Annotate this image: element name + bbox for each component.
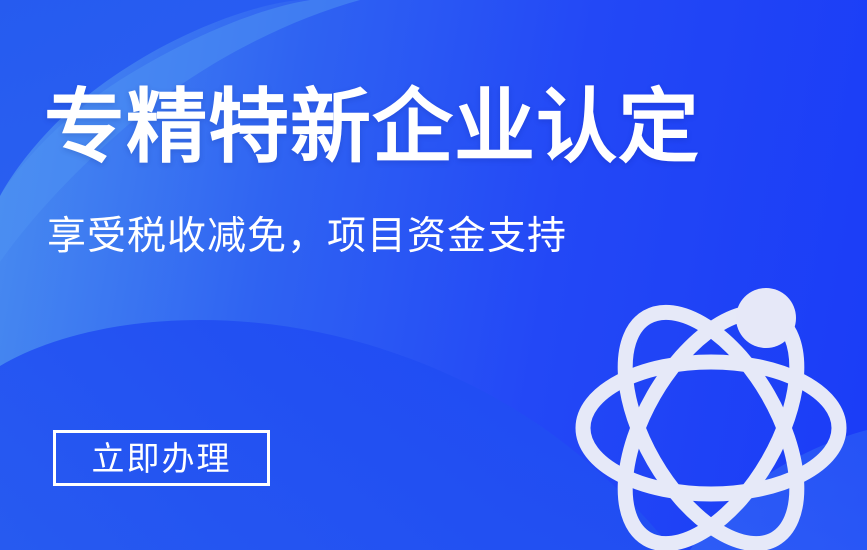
apply-now-button[interactable]: 立即办理 <box>53 430 270 486</box>
promo-banner: 专精特新企业认定 享受税收减免，项目资金支持 立即办理 <box>0 0 867 550</box>
atom-electron <box>736 288 796 348</box>
page-title: 专精特新企业认定 <box>44 86 700 171</box>
atom-icon <box>566 276 866 550</box>
page-subtitle: 享受税收减免，项目资金支持 <box>47 212 567 263</box>
